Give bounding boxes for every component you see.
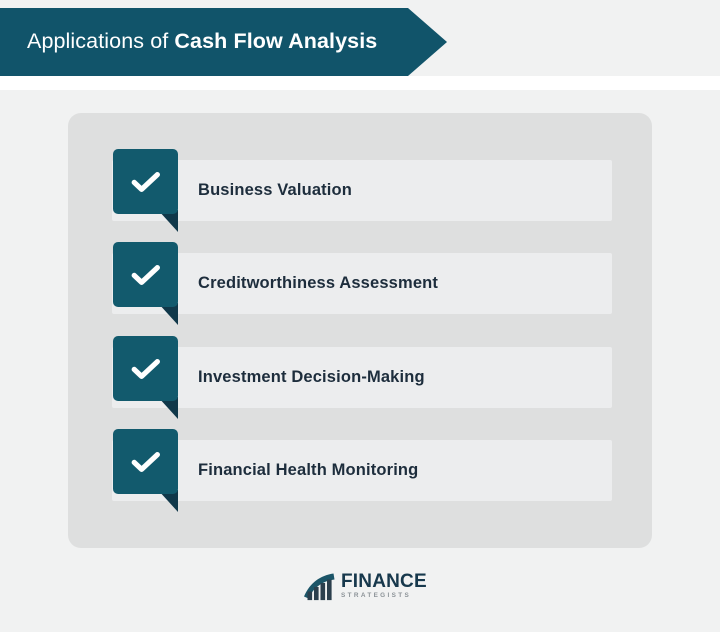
list-item[interactable]: Financial Health Monitoring xyxy=(112,440,612,501)
check-icon xyxy=(113,242,178,307)
list-item-background xyxy=(112,160,612,221)
check-bubble xyxy=(113,149,178,214)
brand-name-primary: FINANCE xyxy=(341,572,427,591)
header-spacer xyxy=(0,76,720,90)
list-item-label: Business Valuation xyxy=(198,160,352,221)
list-item[interactable]: Investment Decision-Making xyxy=(112,347,612,408)
brand-logo-text: FINANCE STRATEGISTS xyxy=(341,572,427,599)
chart-arrow-logo-icon xyxy=(303,571,337,601)
list-item-label: Investment Decision-Making xyxy=(198,347,425,408)
list-item[interactable]: Creditworthiness Assessment xyxy=(112,253,612,314)
check-icon xyxy=(113,336,178,401)
page-title-prefix: Applications of xyxy=(27,29,174,53)
brand-logo: FINANCE STRATEGISTS xyxy=(303,566,433,606)
page-title-strong: Cash Flow Analysis xyxy=(174,29,377,53)
header-banner: Applications of Cash Flow Analysis xyxy=(0,8,447,76)
check-bubble xyxy=(113,242,178,307)
list-item-label: Financial Health Monitoring xyxy=(198,440,418,501)
check-icon xyxy=(113,149,178,214)
check-bubble xyxy=(113,429,178,494)
check-bubble xyxy=(113,336,178,401)
check-icon xyxy=(113,429,178,494)
list-item-label: Creditworthiness Assessment xyxy=(198,253,438,314)
page-title: Applications of Cash Flow Analysis xyxy=(27,31,377,53)
infographic-root: Applications of Cash Flow Analysis Busin… xyxy=(0,0,720,632)
list-item[interactable]: Business Valuation xyxy=(112,160,612,221)
brand-name-secondary: STRATEGISTS xyxy=(341,593,427,599)
